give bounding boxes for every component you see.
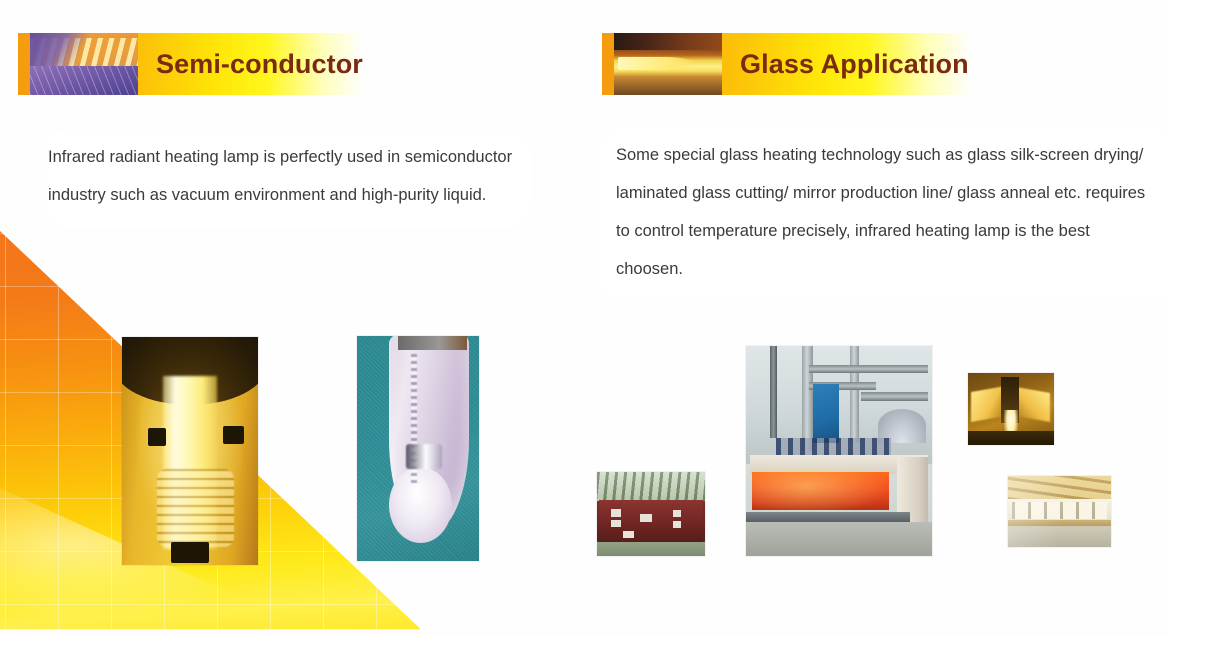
- semi-conductor-paragraph: Infrared radiant heating lamp is perfect…: [48, 138, 518, 214]
- semi-conductor-description: Infrared radiant heating lamp is perfect…: [42, 130, 532, 228]
- section-title-glass-application: Glass Application: [740, 33, 969, 95]
- amber-furnace-interior-photo: [968, 373, 1054, 445]
- glass-application-paragraph: Some special glass heating technology su…: [616, 136, 1161, 288]
- glass-production-line-photo: [746, 346, 932, 556]
- quartz-lamp-tube-tip-photo: [357, 336, 479, 561]
- glass-anneal-tunnel-photo: [1008, 476, 1111, 547]
- semiconductor-lamp-array-thumbnail-icon: [30, 33, 138, 95]
- glowing-gold-infrared-lamp-photo: [122, 337, 258, 565]
- section-title-semi-conductor: Semi-conductor: [156, 33, 363, 95]
- glass-furnace-thumbnail-icon: [614, 33, 722, 95]
- glass-application-description: Some special glass heating technology su…: [600, 128, 1175, 302]
- red-machinery-photo: [597, 472, 705, 556]
- section-header-glass-application: Glass Application: [602, 33, 972, 95]
- section-header-semi-conductor: Semi-conductor: [18, 33, 363, 95]
- slide-canvas: Semi-conductor Infrared radiant heating …: [0, 0, 1221, 654]
